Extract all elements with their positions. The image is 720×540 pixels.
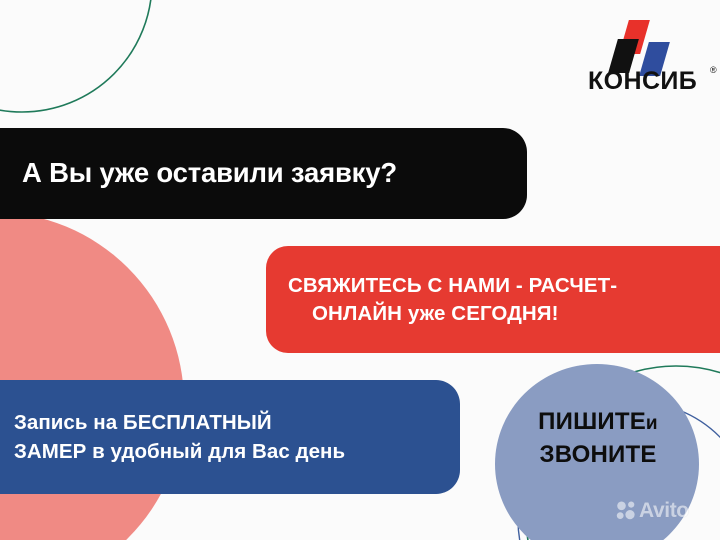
offer-banner: СВЯЖИТЕСЬ С НАМИ - РАСЧЕТ- ОНЛАЙН уже СЕ… [266, 246, 720, 353]
cta-line-1: ПИШИТЕи [488, 405, 708, 438]
booking-line-2: ЗАМЕР в удобный для Вас день [14, 437, 345, 466]
booking-line-1: Запись на БЕСПЛАТНЫЙ [14, 408, 272, 437]
avito-watermark-text: Avito [639, 500, 689, 521]
offer-line-1: СВЯЖИТЕСЬ С НАМИ - РАСЧЕТ- [288, 272, 617, 299]
cta-write-label: ПИШИТЕ [538, 408, 646, 435]
offer-line-2: ОНЛАЙН уже СЕГОДНЯ! [288, 300, 559, 327]
avito-dots-icon [616, 501, 636, 520]
registered-trademark-icon: ® [710, 66, 717, 75]
avito-watermark: Avito [616, 500, 689, 521]
promo-banner-canvas: КОНСИБ ® А Вы уже оставили заявку? СВЯЖИ… [0, 0, 720, 540]
logo-mark-group [588, 18, 708, 66]
contact-call-to-action: ПИШИТЕи ЗВОНИТЕ [488, 405, 708, 471]
headline-banner: А Вы уже оставили заявку? [0, 128, 527, 219]
booking-banner: Запись на БЕСПЛАТНЫЙ ЗАМЕР в удобный для… [0, 380, 460, 494]
logo-wordmark: КОНСИБ ® [588, 69, 708, 94]
logo-wordmark-text: КОНСИБ [588, 67, 697, 95]
cta-line-2: ЗВОНИТЕ [488, 438, 708, 471]
konsib-logo[interactable]: КОНСИБ ® [588, 18, 708, 100]
green-outline-circle-top-left [0, 0, 152, 112]
headline-text: А Вы уже оставили заявку? [22, 158, 397, 188]
cta-conjunction: и [646, 413, 658, 434]
